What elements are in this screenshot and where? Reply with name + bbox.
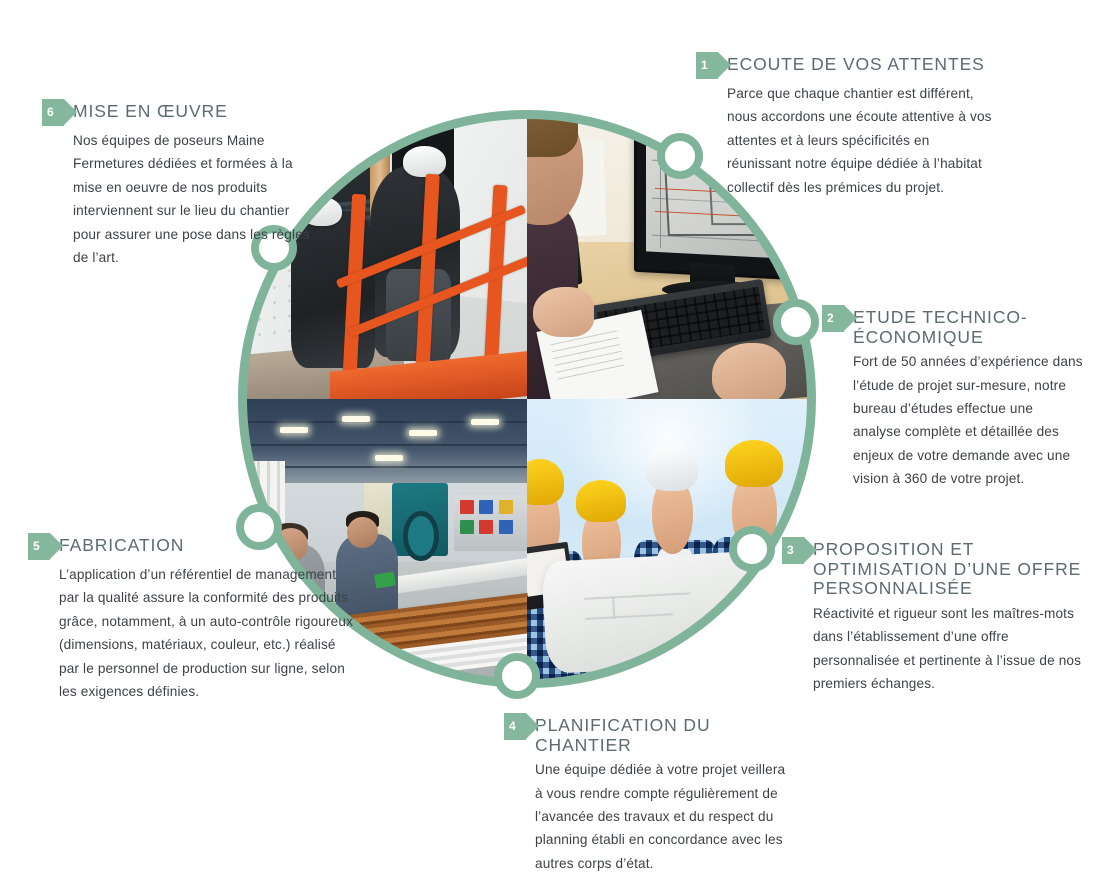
step-2-body: Fort de 50 années d’expérience dans l’ét… bbox=[822, 350, 1084, 490]
step-4-number-badge: 4 bbox=[504, 713, 526, 740]
step-5-header: 5 FABRICATION bbox=[28, 533, 358, 560]
step-4-title: PLANIFICATION DU CHANTIER bbox=[535, 713, 794, 755]
step-block-4: 4 PLANIFICATION DU CHANTIER Une équipe d… bbox=[504, 713, 794, 875]
infographic-canvas: 1 ECOUTE DE VOS ATTENTES Parce que chaqu… bbox=[0, 0, 1100, 879]
step-6-body: Nos équipes de poseurs Maine Fermetures … bbox=[42, 129, 312, 269]
step-2-title: ETUDE TECHNICO-ÉCONOMIQUE bbox=[853, 305, 1084, 347]
step-4-body: Une équipe dédiée à votre projet veiller… bbox=[504, 758, 794, 875]
step-5-body: L’application d’un référentiel de manage… bbox=[28, 563, 358, 703]
step-block-5: 5 FABRICATION L’application d’un référen… bbox=[28, 533, 358, 703]
ring-node-step-2 bbox=[773, 299, 819, 345]
step-1-title: ECOUTE DE VOS ATTENTES bbox=[727, 52, 985, 75]
step-6-header: 6 MISE EN ŒUVRE bbox=[42, 99, 312, 126]
step-1-number-badge: 1 bbox=[696, 52, 718, 79]
ring-node-step-4 bbox=[494, 653, 540, 699]
step-block-2: 2 ETUDE TECHNICO-ÉCONOMIQUE Fort de 50 a… bbox=[822, 305, 1084, 490]
step-block-1: 1 ECOUTE DE VOS ATTENTES Parce que chaqu… bbox=[696, 52, 996, 199]
step-3-body: Réactivité et rigueur sont les maîtres-m… bbox=[782, 602, 1082, 696]
step-block-6: 6 MISE EN ŒUVRE Nos équipes de poseurs M… bbox=[42, 99, 312, 269]
step-3-number-badge: 3 bbox=[782, 537, 804, 564]
step-2-header: 2 ETUDE TECHNICO-ÉCONOMIQUE bbox=[822, 305, 1084, 347]
step-6-title: MISE EN ŒUVRE bbox=[73, 99, 228, 122]
step-2-number-badge: 2 bbox=[822, 305, 844, 332]
step-5-number-badge: 5 bbox=[28, 533, 50, 560]
step-4-header: 4 PLANIFICATION DU CHANTIER bbox=[504, 713, 794, 755]
step-6-number-badge: 6 bbox=[42, 99, 64, 126]
step-block-3: 3 PROPOSITION ET OPTIMISATION D’UNE OFFR… bbox=[782, 537, 1082, 695]
step-1-body: Parce que chaque chantier est différent,… bbox=[696, 82, 996, 199]
step-3-header: 3 PROPOSITION ET OPTIMISATION D’UNE OFFR… bbox=[782, 537, 1082, 599]
step-3-title: PROPOSITION ET OPTIMISATION D’UNE OFFRE … bbox=[813, 537, 1082, 599]
step-1-header: 1 ECOUTE DE VOS ATTENTES bbox=[696, 52, 996, 79]
step-5-title: FABRICATION bbox=[59, 533, 184, 556]
ring-node-step-3 bbox=[729, 526, 775, 572]
